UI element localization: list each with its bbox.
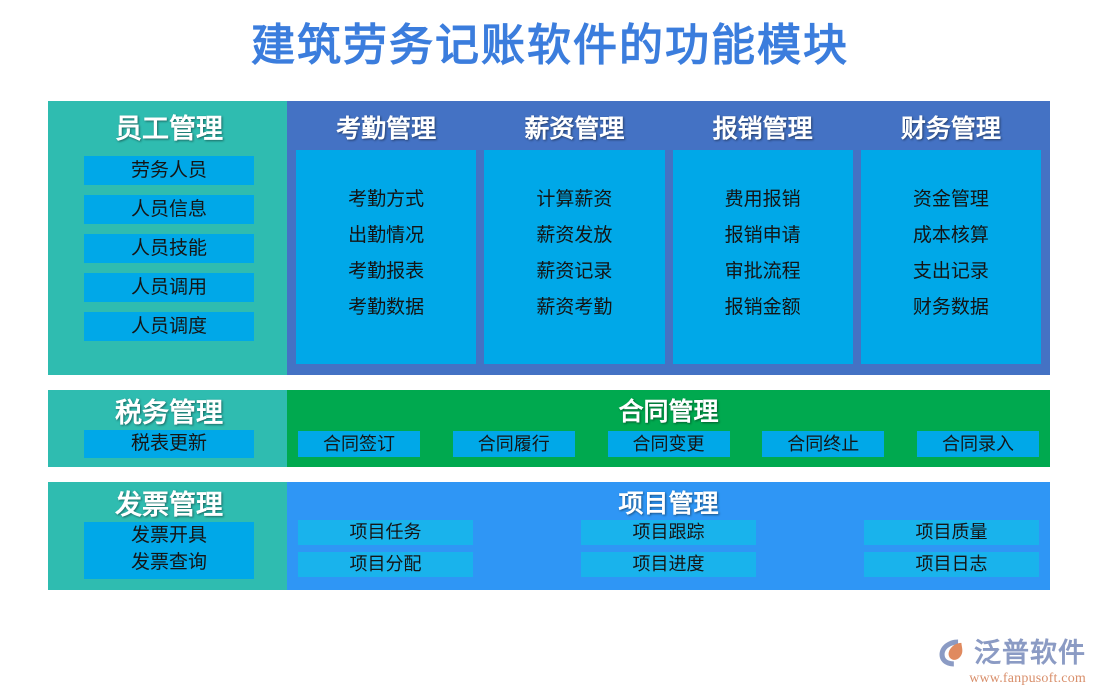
column-attendance-title: 考勤管理 bbox=[296, 109, 476, 145]
item-salary-payment[interactable]: 薪资发放 bbox=[536, 218, 612, 254]
main-modules-panel: 考勤管理 考勤方式 出勤情况 考勤报表 考勤数据 薪资管理 计算薪资 薪资发放 … bbox=[287, 101, 1050, 375]
column-finance-management: 财务管理 资金管理 成本核算 支出记录 财务数据 bbox=[861, 101, 1041, 375]
item-salary-calculation[interactable]: 计算薪资 bbox=[536, 182, 612, 218]
item-reimbursement-amount[interactable]: 报销金额 bbox=[725, 290, 801, 326]
item-contract-termination[interactable]: 合同终止 bbox=[762, 431, 884, 457]
block-tax-title: 税务管理 bbox=[48, 391, 290, 430]
panel-contract-title: 合同管理 bbox=[287, 392, 1050, 428]
item-project-log[interactable]: 项目日志 bbox=[864, 552, 1039, 577]
block-tax-management: 税务管理 税表更新 bbox=[48, 390, 290, 467]
logo-company-name: 泛普软件 bbox=[974, 640, 1086, 667]
page-title: 建筑劳务记账软件的功能模块 bbox=[0, 22, 1100, 70]
logo-website-url: www.fanpusoft.com bbox=[936, 671, 1086, 687]
item-attendance-status[interactable]: 出勤情况 bbox=[348, 218, 424, 254]
block-employee-title: 员工管理 bbox=[48, 107, 290, 146]
column-reimbursement-items: 费用报销 报销申请 审批流程 报销金额 bbox=[673, 150, 853, 364]
company-logo: 泛普软件 www.fanpusoft.com bbox=[936, 636, 1086, 688]
item-project-tracking[interactable]: 项目跟踪 bbox=[581, 520, 756, 545]
project-item-row-2: 项目分配 项目进度 项目日志 bbox=[298, 552, 1039, 577]
item-contract-performance[interactable]: 合同履行 bbox=[453, 431, 575, 457]
column-attendance-management: 考勤管理 考勤方式 出勤情况 考勤报表 考勤数据 bbox=[296, 101, 476, 375]
column-salary-management: 薪资管理 计算薪资 薪资发放 薪资记录 薪资考勤 bbox=[484, 101, 664, 375]
fanpu-leaf-logo-icon bbox=[936, 637, 970, 669]
panel-contract-management: 合同管理 合同签订 合同履行 合同变更 合同终止 合同录入 bbox=[287, 390, 1050, 467]
item-reimbursement-request[interactable]: 报销申请 bbox=[725, 218, 801, 254]
item-salary-record[interactable]: 薪资记录 bbox=[536, 254, 612, 290]
item-personnel-scheduling[interactable]: 人员调度 bbox=[84, 312, 254, 341]
item-attendance-data[interactable]: 考勤数据 bbox=[348, 290, 424, 326]
column-finance-title: 财务管理 bbox=[861, 109, 1041, 145]
item-tax-form-update[interactable]: 税表更新 bbox=[84, 430, 254, 458]
item-invoice-issue[interactable]: 发票开具 bbox=[84, 523, 254, 550]
item-project-task[interactable]: 项目任务 bbox=[298, 520, 473, 545]
project-item-grid: 项目任务 项目跟踪 项目质量 项目分配 项目进度 项目日志 bbox=[287, 520, 1050, 577]
item-fund-management[interactable]: 资金管理 bbox=[913, 182, 989, 218]
item-financial-data[interactable]: 财务数据 bbox=[913, 290, 989, 326]
item-cost-accounting[interactable]: 成本核算 bbox=[913, 218, 989, 254]
diagram-canvas: 建筑劳务记账软件的功能模块 员工管理 劳务人员 人员信息 人员技能 人员调用 人… bbox=[0, 0, 1100, 700]
item-project-quality[interactable]: 项目质量 bbox=[864, 520, 1039, 545]
item-salary-attendance[interactable]: 薪资考勤 bbox=[536, 290, 612, 326]
block-invoice-item-list: 发票开具 发票查询 bbox=[84, 522, 254, 579]
contract-item-row: 合同签订 合同履行 合同变更 合同终止 合同录入 bbox=[287, 428, 1050, 457]
block-employee-item-list: 劳务人员 人员信息 人员技能 人员调用 人员调度 bbox=[48, 156, 290, 341]
item-personnel-skills[interactable]: 人员技能 bbox=[84, 234, 254, 263]
column-salary-title: 薪资管理 bbox=[484, 109, 664, 145]
item-personnel-info[interactable]: 人员信息 bbox=[84, 195, 254, 224]
item-attendance-report[interactable]: 考勤报表 bbox=[348, 254, 424, 290]
item-contract-signing[interactable]: 合同签订 bbox=[298, 431, 420, 457]
project-item-row-1: 项目任务 项目跟踪 项目质量 bbox=[298, 520, 1039, 545]
column-finance-items: 资金管理 成本核算 支出记录 财务数据 bbox=[861, 150, 1041, 364]
item-contract-change[interactable]: 合同变更 bbox=[608, 431, 730, 457]
item-attendance-method[interactable]: 考勤方式 bbox=[348, 182, 424, 218]
panel-project-title: 项目管理 bbox=[287, 484, 1050, 520]
block-employee-management: 员工管理 劳务人员 人员信息 人员技能 人员调用 人员调度 bbox=[48, 101, 290, 375]
item-project-allocation[interactable]: 项目分配 bbox=[298, 552, 473, 577]
item-invoice-query[interactable]: 发票查询 bbox=[84, 550, 254, 577]
item-approval-workflow[interactable]: 审批流程 bbox=[725, 254, 801, 290]
item-personnel-transfer[interactable]: 人员调用 bbox=[84, 273, 254, 302]
item-project-progress[interactable]: 项目进度 bbox=[581, 552, 756, 577]
item-expenditure-record[interactable]: 支出记录 bbox=[913, 254, 989, 290]
block-invoice-management: 发票管理 发票开具 发票查询 bbox=[48, 482, 290, 590]
item-labor-personnel[interactable]: 劳务人员 bbox=[84, 156, 254, 185]
column-attendance-items: 考勤方式 出勤情况 考勤报表 考勤数据 bbox=[296, 150, 476, 364]
column-salary-items: 计算薪资 薪资发放 薪资记录 薪资考勤 bbox=[484, 150, 664, 364]
item-expense-reimbursement[interactable]: 费用报销 bbox=[725, 182, 801, 218]
column-reimbursement-title: 报销管理 bbox=[673, 109, 853, 145]
block-invoice-title: 发票管理 bbox=[48, 483, 290, 522]
item-contract-entry[interactable]: 合同录入 bbox=[917, 431, 1039, 457]
panel-project-management: 项目管理 项目任务 项目跟踪 项目质量 项目分配 项目进度 项目日志 bbox=[287, 482, 1050, 590]
column-reimbursement-management: 报销管理 费用报销 报销申请 审批流程 报销金额 bbox=[673, 101, 853, 375]
